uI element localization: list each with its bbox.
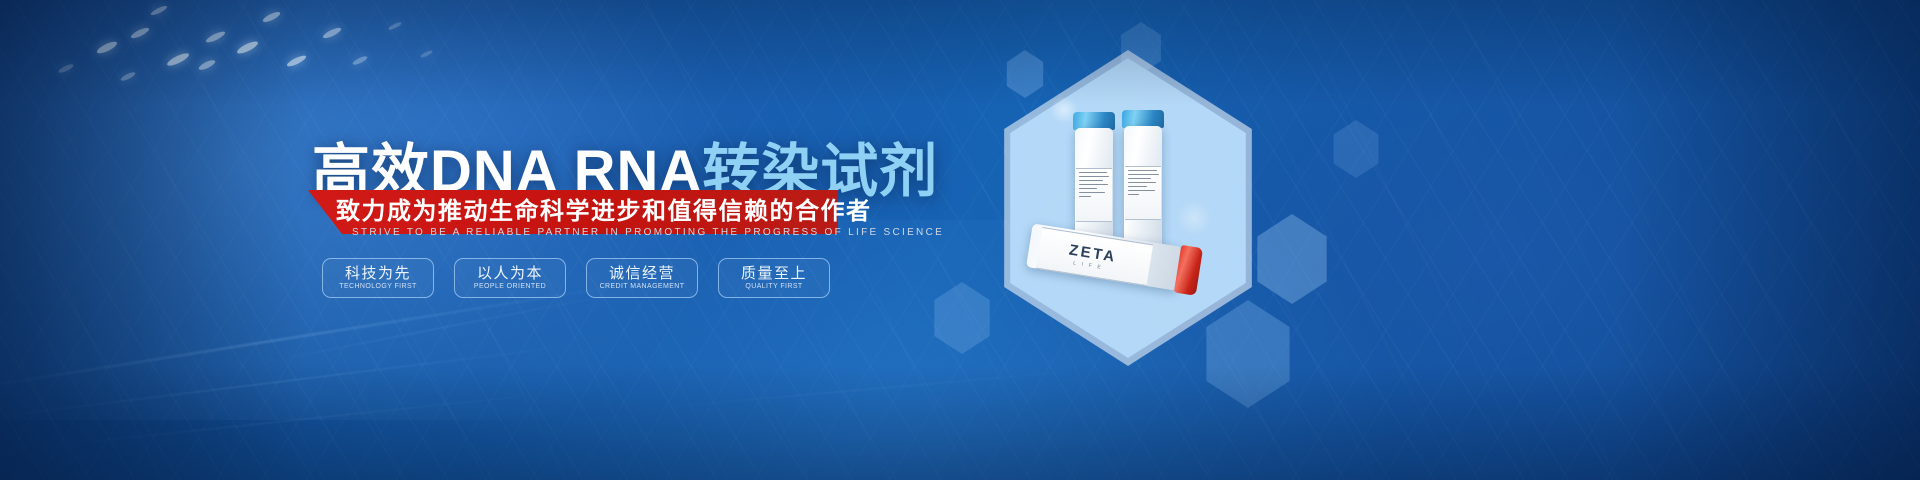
feature-pill-technology[interactable]: 科技为先 TECHNOLOGY FIRST: [322, 258, 434, 298]
product-artwork: ZETA L I F E: [900, 0, 1920, 480]
vial-label-2: [1125, 166, 1161, 220]
hexagon-decor-far-right: [1330, 120, 1382, 178]
banner-content: 高效DNA RNA转染试剂 致力成为推动生命科学进步和值得信赖的合作者 STRI…: [0, 0, 960, 480]
pill-label-cn: 质量至上: [741, 266, 807, 282]
highlight-sparkle-2: [1176, 200, 1212, 236]
pill-label-cn: 以人为本: [477, 266, 543, 282]
pill-label-en: PEOPLE ORIENTED: [474, 283, 546, 290]
feature-pill-list: 科技为先 TECHNOLOGY FIRST 以人为本 PEOPLE ORIENT…: [322, 258, 830, 298]
pill-label-cn: 诚信经营: [609, 266, 675, 282]
highlight-sparkle-1: [1050, 96, 1078, 124]
hexagon-decor-br: [1200, 300, 1296, 408]
pill-label-en: TECHNOLOGY FIRST: [339, 283, 416, 290]
pill-label-en: CREDIT MANAGEMENT: [600, 283, 685, 290]
hexagon-decor-bl: [930, 282, 994, 354]
promo-banner: 高效DNA RNA转染试剂 致力成为推动生命科学进步和值得信赖的合作者 STRI…: [0, 0, 1920, 480]
hexagon-decor-right: [1252, 214, 1332, 304]
hexagon-decor-left: [1004, 50, 1046, 98]
pill-label-en: QUALITY FIRST: [745, 283, 802, 290]
vial-label-1: [1076, 168, 1112, 222]
vial-label-3: ZETA L I F E: [1036, 227, 1153, 286]
pill-label-cn: 科技为先: [345, 266, 411, 282]
english-tagline: STRIVE TO BE A RELIABLE PARTNER IN PROMO…: [352, 227, 944, 238]
feature-pill-quality[interactable]: 质量至上 QUALITY FIRST: [718, 258, 830, 298]
feature-pill-credit[interactable]: 诚信经营 CREDIT MANAGEMENT: [586, 258, 698, 298]
feature-pill-people[interactable]: 以人为本 PEOPLE ORIENTED: [454, 258, 566, 298]
